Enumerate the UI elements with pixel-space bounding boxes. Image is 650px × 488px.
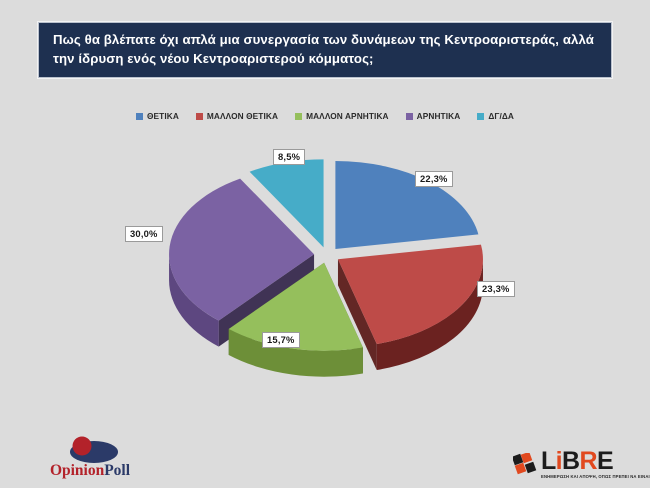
data-label-thetika: 22,3%: [415, 171, 453, 187]
legend-swatch-icon: [406, 113, 413, 120]
opinionpoll-word-poll: Poll: [104, 462, 130, 479]
libre-wordmark: LiBRE: [541, 449, 613, 474]
legend-label: ΑΡΝΗΤΙΚΑ: [417, 111, 461, 121]
legend-swatch-icon: [295, 113, 302, 120]
legend-item-thetika[interactable]: ΘΕΤΙΚΑ: [136, 111, 179, 121]
legend-swatch-icon: [196, 113, 203, 120]
libre-squares-icon: [513, 453, 539, 475]
libre-tagline: ΕΝΗΜΕΡΩΣΗ ΚΑΙ ΑΠΟΨΗ, ΟΠΩΣ ΠΡΕΠΕΙ ΝΑ ΕΙΝΑ…: [541, 474, 650, 479]
opinionpoll-wordmark: OpinionPoll: [34, 462, 146, 480]
legend-item-dg-da[interactable]: ΔΓ/ΔΑ: [477, 111, 514, 121]
legend-item-arnitika[interactable]: ΑΡΝΗΤΙΚΑ: [406, 111, 461, 121]
legend-label: ΘΕΤΙΚΑ: [147, 111, 179, 121]
opinionpoll-mark-icon: [62, 436, 120, 464]
opinionpoll-word-opinion: Opinion: [50, 462, 104, 479]
opinionpoll-logo: OpinionPoll: [34, 436, 146, 484]
legend-label: ΜΑΛΛΟΝ ΑΡΝΗΤΙΚΑ: [306, 111, 389, 121]
data-label-arnitika: 30,0%: [125, 226, 163, 242]
pie-chart-svg: [0, 130, 650, 420]
legend-item-mallon-thetika[interactable]: ΜΑΛΛΟΝ ΘΕΤΙΚΑ: [196, 111, 278, 121]
pie-chart: 22,3% 23,3% 15,7% 30,0% 8,5%: [0, 130, 650, 420]
data-label-mallon-arnitika: 15,7%: [262, 332, 300, 348]
data-label-mallon-thetika: 23,3%: [477, 281, 515, 297]
data-label-dg-da: 8,5%: [273, 149, 305, 165]
libre-letter-b: B: [562, 447, 579, 475]
legend-swatch-icon: [136, 113, 143, 120]
libre-letter-r: R: [580, 447, 597, 475]
poll-chart-page: Πως θα βλέπατε όχι απλά μια συνεργασία τ…: [0, 0, 650, 488]
legend-swatch-icon: [477, 113, 484, 120]
chart-title: Πως θα βλέπατε όχι απλά μια συνεργασία τ…: [39, 31, 611, 68]
libre-letter-e: E: [597, 447, 613, 475]
legend-label: ΔΓ/ΔΑ: [488, 111, 514, 121]
pie-slice-0: [335, 161, 478, 249]
libre-logo: LiBRE ΕΝΗΜΕΡΩΣΗ ΚΑΙ ΑΠΟΨΗ, ΟΠΩΣ ΠΡΕΠΕΙ Ν…: [513, 449, 635, 483]
legend-label: ΜΑΛΛΟΝ ΘΕΤΙΚΑ: [207, 111, 278, 121]
legend-item-mallon-arnitika[interactable]: ΜΑΛΛΟΝ ΑΡΝΗΤΙΚΑ: [295, 111, 389, 121]
chart-title-bar: Πως θα βλέπατε όχι απλά μια συνεργασία τ…: [38, 22, 612, 78]
libre-letter-l: L: [541, 447, 556, 475]
chart-legend: ΘΕΤΙΚΑ ΜΑΛΛΟΝ ΘΕΤΙΚΑ ΜΑΛΛΟΝ ΑΡΝΗΤΙΚΑ ΑΡΝ…: [0, 111, 650, 121]
